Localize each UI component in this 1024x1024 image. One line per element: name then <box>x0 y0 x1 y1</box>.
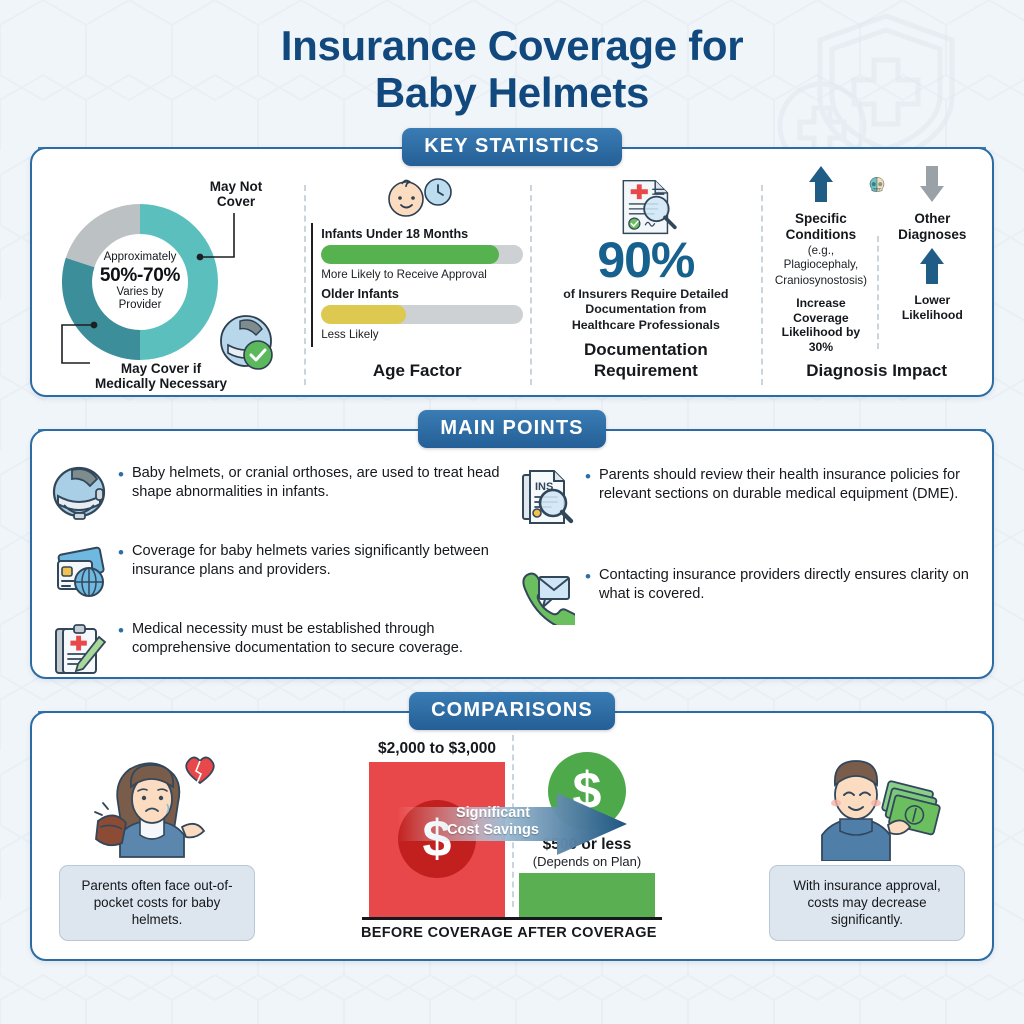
documentation-sub-3: Healthcare Professionals <box>563 318 728 334</box>
age-bar-1-fill <box>321 245 499 264</box>
section-key-statistics: KEY STATISTICS <box>30 129 994 397</box>
arrow-down-gray-icon <box>919 164 945 204</box>
cost-comparison-chart: $2,000 to $3,000 $ BEFORE COVERAGE $ $50… <box>268 731 756 941</box>
after-coverage-amount-sub: (Depends on Plan) <box>533 854 641 869</box>
diagnosis-other-diagnoses: Other Diagnoses Lower Likelihood <box>879 192 986 354</box>
worried-parent-icon <box>82 749 232 861</box>
donut-center-sub2: Provider <box>119 299 162 312</box>
documentation-sub-1: of Insurers Require Detailed <box>563 287 728 303</box>
skull-split-icon <box>839 177 915 192</box>
after-coverage-label: AFTER COVERAGE <box>517 925 657 941</box>
cost-savings-arrow-label: Significant Cost Savings <box>429 805 557 839</box>
happy-parent-money-icon <box>792 751 942 861</box>
key-statistics-card: Approximately 50%-70% Varies by Provider… <box>30 147 994 397</box>
age-factor-bars: Infants Under 18 Months More Likely to R… <box>311 223 523 347</box>
bullet-dot: • <box>118 463 124 487</box>
diagnosis-left-head-1: Specific <box>769 211 872 227</box>
diagnosis-left-head-2: Conditions <box>769 227 872 243</box>
main-points-badge-wrap: MAIN POINTS <box>30 411 994 447</box>
list-item: • Contacting insurance providers directl… <box>515 565 976 627</box>
main-points-right-column: INS • Parents should review their health… <box>515 463 976 681</box>
documentation-subtext: of Insurers Require Detailed Documentati… <box>563 287 728 335</box>
comparison-left-note: Parents often face out-of-pocket costs f… <box>59 865 255 941</box>
arrow-up-blue-icon <box>808 164 834 204</box>
age-bar-1-sub: More Likely to Receive Approval <box>321 268 523 281</box>
after-coverage-bar <box>519 873 655 917</box>
diagnosis-right-head-2: Diagnoses <box>881 227 984 243</box>
list-item: • Medical necessity must be established … <box>48 619 509 681</box>
documentation-sub-2: Documentation from <box>563 302 728 318</box>
helmet-icon <box>48 463 110 525</box>
donut-chart-area: Approximately 50%-70% Varies by Provider… <box>38 177 298 392</box>
diagnosis-left-foot-2: Likelihood by 30% <box>769 325 872 354</box>
donut-label-may-not-cover: May Not Cover <box>188 179 284 210</box>
diagnosis-specific-conditions: Specific Conditions (e.g., Plagiocephaly… <box>767 192 874 354</box>
main-points-card: • Baby helmets, or cranial orthoses, are… <box>30 429 994 679</box>
infographic-page: Insurance Coverage for Baby Helmets KEY … <box>0 0 1024 1024</box>
donut-center-value: 50%-70% <box>100 265 180 287</box>
main-points-left-column: • Baby helmets, or cranial orthoses, are… <box>48 463 509 681</box>
before-coverage-label: BEFORE COVERAGE <box>361 925 513 941</box>
arrow-up-blue-secondary-icon <box>919 246 945 286</box>
age-bar-2-fill <box>321 305 406 324</box>
main-point-text: Baby helmets, or cranial orthoses, are u… <box>132 463 509 503</box>
stat-documentation: 90% of Insurers Require Detailed Documen… <box>530 175 761 395</box>
bullet-dot: • <box>118 619 124 643</box>
age-factor-title: Age Factor <box>373 355 462 381</box>
list-item: • Baby helmets, or cranial orthoses, are… <box>48 463 509 525</box>
before-axis-line <box>362 917 512 920</box>
age-bar-2-sub: Less Likely <box>321 328 523 341</box>
section-main-points: MAIN POINTS <box>30 411 994 679</box>
donut-center-label: Approximately 50%-70% Varies by Provider <box>88 230 192 334</box>
key-statistics-badge: KEY STATISTICS <box>402 128 621 166</box>
comparisons-card: Parents often face out-of-pocket costs f… <box>30 711 994 961</box>
bullet-dot: • <box>118 541 124 565</box>
title-line-1: Insurance Coverage for <box>0 22 1024 69</box>
before-coverage-amount: $2,000 to $3,000 <box>378 740 496 758</box>
policy-document-icon: INS <box>515 465 577 527</box>
donut-center-top: Approximately <box>104 251 177 264</box>
key-statistics-row: Approximately 50%-70% Varies by Provider… <box>32 175 992 395</box>
age-bar-1-track <box>321 245 523 264</box>
main-point-text: Contacting insurance providers directly … <box>599 565 976 605</box>
age-bar-2-label: Older Infants <box>321 287 523 301</box>
documentation-title-line-2: Requirement <box>584 361 708 381</box>
diagnosis-columns: Specific Conditions (e.g., Plagiocephaly… <box>767 192 986 354</box>
stat-age-factor: Infants Under 18 Months More Likely to R… <box>304 175 530 395</box>
documentation-title: Documentation Requirement <box>584 334 708 381</box>
main-points-grid: • Baby helmets, or cranial orthoses, are… <box>32 457 992 699</box>
comparison-left-side: Parents often face out-of-pocket costs f… <box>46 749 268 941</box>
page-title: Insurance Coverage for Baby Helmets <box>0 0 1024 117</box>
comparison-right-side: With insurance approval, costs may decre… <box>756 751 978 941</box>
arrow-label-line-2: Cost Savings <box>429 822 557 839</box>
insurance-card-icon <box>48 541 110 603</box>
stat-coverage-donut: Approximately 50%-70% Varies by Provider… <box>32 175 304 395</box>
bullet-dot: • <box>585 465 591 489</box>
baby-clock-icon <box>380 177 454 219</box>
age-bar-1-label: Infants Under 18 Months <box>321 227 523 241</box>
title-line-2: Baby Helmets <box>0 69 1024 116</box>
diagnosis-right-head-1: Other <box>881 211 984 227</box>
document-magnifier-icon <box>591 177 701 237</box>
donut-center-sub1: Varies by <box>116 286 163 299</box>
main-points-badge: MAIN POINTS <box>418 410 605 448</box>
diagnosis-impact-title: Diagnosis Impact <box>806 355 947 381</box>
bullet-dot: • <box>585 565 591 589</box>
documentation-percent: 90% <box>597 237 694 285</box>
diagnosis-right-foot-2: Likelihood <box>881 308 984 323</box>
diagnosis-right-foot-1: Lower <box>881 293 984 308</box>
after-axis-line <box>512 917 662 920</box>
list-item: INS • Parents should review their health… <box>515 465 976 527</box>
age-bar-2-track <box>321 305 523 324</box>
diagnosis-left-note-2: Craniosynostosis) <box>769 274 872 288</box>
section-comparisons: COMPARISONS <box>30 693 994 961</box>
main-point-text: Medical necessity must be established th… <box>132 619 509 659</box>
comparisons-body: Parents often face out-of-pocket costs f… <box>32 721 992 953</box>
arrow-label-line-1: Significant <box>429 805 557 822</box>
comparison-right-note: With insurance approval, costs may decre… <box>769 865 965 941</box>
main-point-text: Parents should review their health insur… <box>599 465 976 505</box>
donut-label-may-cover: May Cover if Medically Necessary <box>66 361 256 392</box>
stat-diagnosis-impact: Specific Conditions (e.g., Plagiocephaly… <box>761 175 992 395</box>
main-point-text: Coverage for baby helmets varies signifi… <box>132 541 509 581</box>
cost-savings-arrow: Significant Cost Savings <box>397 793 627 855</box>
clipboard-icon <box>48 619 110 681</box>
documentation-title-line-1: Documentation <box>584 340 708 360</box>
diagnosis-left-foot-1: Increase Coverage <box>769 296 872 325</box>
phone-mail-icon <box>515 565 577 627</box>
list-item: • Coverage for baby helmets varies signi… <box>48 541 509 603</box>
key-statistics-badge-wrap: KEY STATISTICS <box>30 129 994 165</box>
diagnosis-left-note-1: (e.g., Plagiocephaly, <box>769 244 872 272</box>
